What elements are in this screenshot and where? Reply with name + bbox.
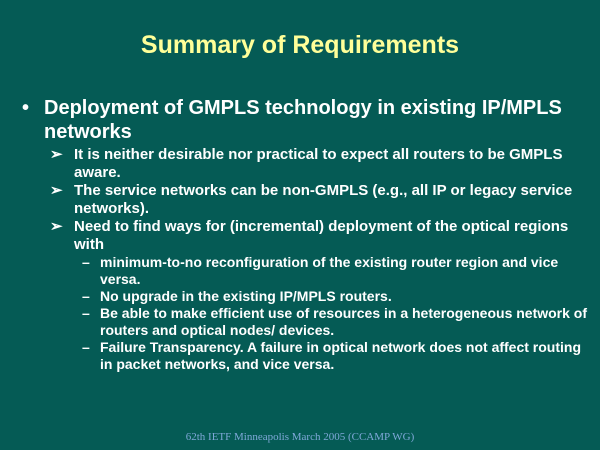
dash-icon: – [82,254,90,271]
bullet-level2-text: It is neither desirable nor practical to… [74,146,562,181]
dash-icon: – [82,339,90,356]
bullet-level3-text: Be able to make efficient use of resourc… [100,305,587,338]
presentation-slide: Summary of Requirements • Deployment of … [0,0,600,450]
bullet-level3-item: – No upgrade in the existing IP/MPLS rou… [74,288,592,305]
bullet-level1-text: Deployment of GMPLS technology in existi… [44,97,562,143]
dash-icon: – [82,288,90,305]
slide-body: • Deployment of GMPLS technology in exis… [14,96,592,373]
bullet-level3-text: Failure Transparency. A failure in optic… [100,339,581,372]
bullet-level2-item: ➢ The service networks can be non-GMPLS … [42,182,592,218]
bullet-level3-item: – Failure Transparency. A failure in opt… [74,339,592,373]
bullet-level3-item: – minimum-to-no reconfiguration of the e… [74,254,592,288]
arrowhead-icon: ➢ [50,182,63,200]
bullet-level1-item: • Deployment of GMPLS technology in exis… [14,96,592,144]
arrowhead-icon: ➢ [50,218,63,236]
bullet-level3-text: minimum-to-no reconfiguration of the exi… [100,254,558,287]
dash-icon: – [82,305,90,322]
bullet-level2-item: ➢ It is neither desirable nor practical … [42,146,592,182]
slide-title: Summary of Requirements [0,30,600,60]
arrowhead-icon: ➢ [50,146,63,164]
bullet-level3-item: – Be able to make efficient use of resou… [74,305,592,339]
bullet-dot-icon: • [22,96,29,120]
bullet-level2-text: The service networks can be non-GMPLS (e… [74,182,572,217]
bullet-level3-text: No upgrade in the existing IP/MPLS route… [100,288,392,304]
bullet-level2-text: Need to find ways for (incremental) depl… [74,218,568,253]
bullet-level2-item: ➢ Need to find ways for (incremental) de… [42,218,592,254]
slide-footer: 62th IETF Minneapolis March 2005 (CCAMP … [0,430,600,444]
